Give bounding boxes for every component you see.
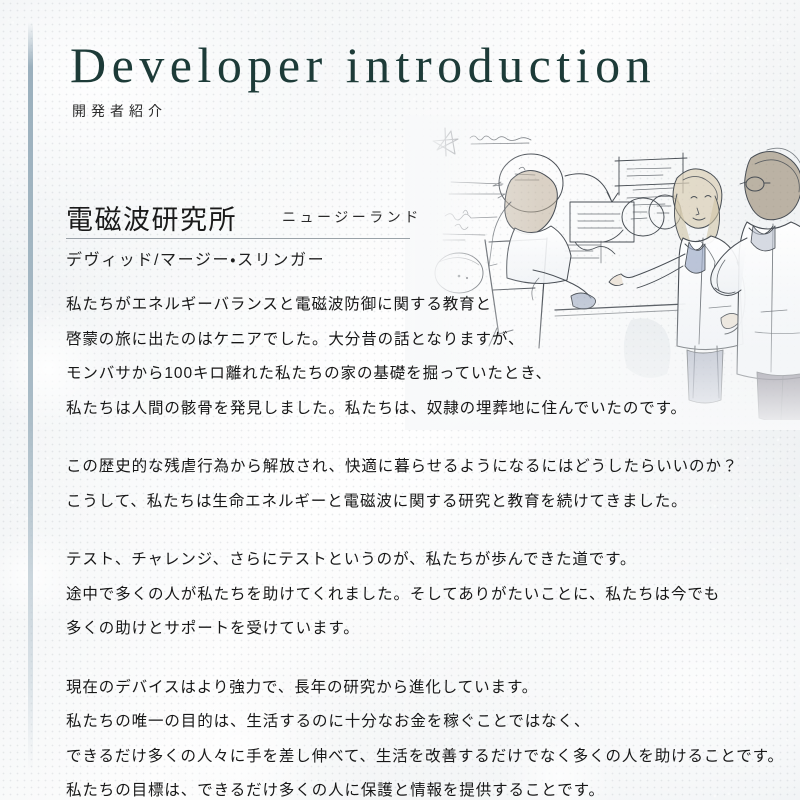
- body-text-block: 私たちがエネルギーバランスと電磁波防御に関する教育と 啓蒙の旅に出たのはケニアで…: [66, 288, 766, 800]
- organization-name: 電磁波研究所: [66, 198, 237, 237]
- paragraph-line: 私たちの目標は、できるだけ多くの人に保護と情報を提供することです。: [66, 774, 766, 800]
- paragraph-line: 啓蒙の旅に出たのはケニアでした。大分昔の話となりますが、: [66, 323, 766, 358]
- paragraph-line: 私たちの唯一の目的は、生活するのに十分なお金を稼ぐことではなく、: [66, 705, 766, 740]
- paragraph-line: テスト、チャレンジ、さらにテストというのが、私たちが歩んできた道です。: [66, 543, 766, 578]
- organization-country: ニュージーランド: [282, 207, 422, 227]
- paragraph-line: こうして、私たちは生命エネルギーと電磁波に関する研究と教育を続けてきました。: [66, 485, 766, 520]
- paragraph-line: 私たちは人間の骸骨を発見しました。私たちは、奴隷の埋葬地に住んでいたのです。: [66, 392, 766, 427]
- paragraph: この歴史的な残虐行為から解放され、快適に暮らせるようになるにはどうしたらいいのか…: [66, 450, 766, 519]
- page-root: Developer introduction 開発者紹介 電磁波研究所 ニュージ…: [0, 0, 800, 800]
- page-title-en: Developer introduction: [70, 36, 656, 94]
- organization-divider: [66, 238, 410, 239]
- paragraph-line: 途中で多くの人が私たちを助けてくれました。そしてありがたいことに、私たちは今でも: [66, 578, 766, 613]
- paragraph-line: この歴史的な残虐行為から解放され、快適に暮らせるようになるにはどうしたらいいのか…: [66, 450, 766, 485]
- paragraph: 現在のデバイスはより強力で、長年の研究から進化しています。 私たちの唯一の目的は…: [66, 671, 766, 800]
- developer-names: デヴィッド/マージー・スリンガー: [66, 246, 325, 270]
- paragraph-line: モンバサから100キロ離れた私たちの家の基礎を掘っていたとき、: [66, 357, 766, 392]
- page-title-ja: 開発者紹介: [72, 101, 167, 121]
- paragraph-line: 現在のデバイスはより強力で、長年の研究から進化しています。: [66, 671, 766, 706]
- paragraph: 私たちがエネルギーバランスと電磁波防御に関する教育と 啓蒙の旅に出たのはケニアで…: [66, 288, 766, 426]
- content-layer: Developer introduction 開発者紹介 電磁波研究所 ニュージ…: [0, 0, 800, 800]
- organization-row: 電磁波研究所 ニュージーランド: [66, 198, 416, 234]
- paragraph-line: 多くの助けとサポートを受けています。: [66, 612, 766, 647]
- paragraph: テスト、チャレンジ、さらにテストというのが、私たちが歩んできた道です。 途中で多…: [66, 543, 766, 647]
- paragraph-line: できるだけ多くの人々に手を差し伸べて、生活を改善するだけでなく多くの人を助けるこ…: [66, 740, 766, 775]
- paragraph-line: 私たちがエネルギーバランスと電磁波防御に関する教育と: [66, 288, 766, 323]
